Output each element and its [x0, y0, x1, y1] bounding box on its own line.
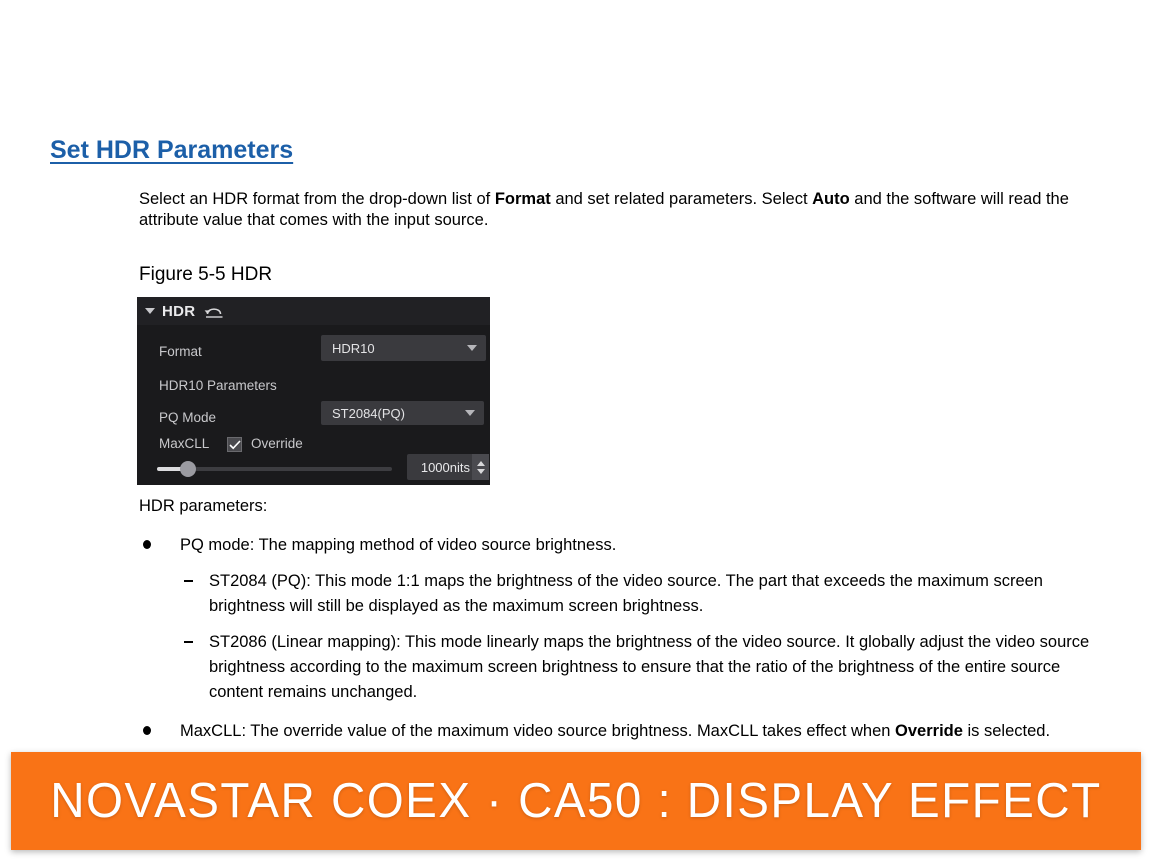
list-item: MaxCLL: The override value of the maximu… — [139, 719, 1099, 744]
list-item-text: PQ mode: The mapping method of video sou… — [180, 536, 616, 554]
maxcll-value-stepper[interactable]: 1000nits — [407, 454, 489, 480]
hdr-parameters-description: HDR parameters: PQ mode: The mapping met… — [139, 494, 1099, 752]
format-dropdown[interactable]: HDR10 — [321, 335, 486, 361]
list-item: PQ mode: The mapping method of video sou… — [139, 533, 1099, 558]
stepper-down-icon[interactable] — [477, 469, 485, 474]
maxcll-slider[interactable] — [157, 461, 392, 477]
slider-track-remaining — [195, 467, 392, 471]
dash-bullet-icon — [184, 580, 193, 582]
pq-mode-label: PQ Mode — [159, 410, 216, 425]
check-icon — [229, 440, 241, 450]
override-checkbox[interactable] — [227, 437, 242, 452]
intro-paragraph: Select an HDR format from the drop-down … — [139, 189, 1089, 231]
figure-caption: Figure 5-5 HDR — [139, 264, 272, 286]
chevron-down-icon — [467, 345, 477, 351]
format-dropdown-value: HDR10 — [332, 341, 375, 356]
intro-bold-auto: Auto — [812, 190, 850, 208]
maxcll-value-text: 1000nits — [407, 460, 472, 475]
override-label: Override — [251, 436, 303, 451]
slider-handle[interactable] — [180, 461, 196, 477]
row-hdr10-parameters: HDR10 Parameters — [137, 369, 490, 401]
pq-mode-dropdown-value: ST2084(PQ) — [332, 406, 405, 421]
chevron-down-icon — [465, 410, 475, 416]
maxcll-item-bold-override: Override — [895, 722, 963, 740]
sub-list-item: ST2084 (PQ): This mode 1:1 maps the brig… — [139, 569, 1099, 619]
sub-list-item: ST2086 (Linear mapping): This mode linea… — [139, 630, 1099, 705]
bullet-dot-icon — [143, 726, 151, 735]
body-lead-line: HDR parameters: — [139, 494, 1099, 519]
maxcll-item-part1: MaxCLL: The override value of the maximu… — [180, 722, 895, 740]
hdr-settings-panel: HDR Format HDR10 HDR10 Parameters PQ Mod… — [137, 297, 490, 485]
sub-list-item-text: ST2086 (Linear mapping): This mode linea… — [209, 633, 1089, 701]
intro-text-part2: and set related parameters. Select — [551, 190, 812, 208]
hdr-panel-title: HDR — [162, 303, 195, 320]
maxcll-item-part2: is selected. — [963, 722, 1050, 740]
reset-arrow-icon[interactable] — [204, 303, 225, 319]
pq-mode-dropdown[interactable]: ST2084(PQ) — [321, 401, 484, 425]
format-label: Format — [159, 344, 202, 359]
intro-bold-format: Format — [495, 190, 551, 208]
hdr10-parameters-label: HDR10 Parameters — [159, 378, 277, 393]
sub-list-item-text: ST2084 (PQ): This mode 1:1 maps the brig… — [209, 572, 1043, 615]
bullet-dot-icon — [143, 540, 151, 549]
hdr-panel-titlebar[interactable]: HDR — [137, 297, 490, 325]
stepper-up-icon[interactable] — [477, 461, 485, 466]
dash-bullet-icon — [184, 641, 193, 643]
footer-banner-text: NOVASTAR COEX · CA50 : DISPLAY EFFECT — [50, 773, 1101, 829]
intro-text-part1: Select an HDR format from the drop-down … — [139, 190, 495, 208]
maxcll-label: MaxCLL — [159, 436, 209, 451]
page-title: Set HDR Parameters — [50, 136, 293, 165]
stepper-buttons[interactable] — [472, 454, 489, 480]
triangle-down-icon[interactable] — [145, 308, 155, 314]
footer-banner: NOVASTAR COEX · CA50 : DISPLAY EFFECT — [11, 752, 1141, 850]
